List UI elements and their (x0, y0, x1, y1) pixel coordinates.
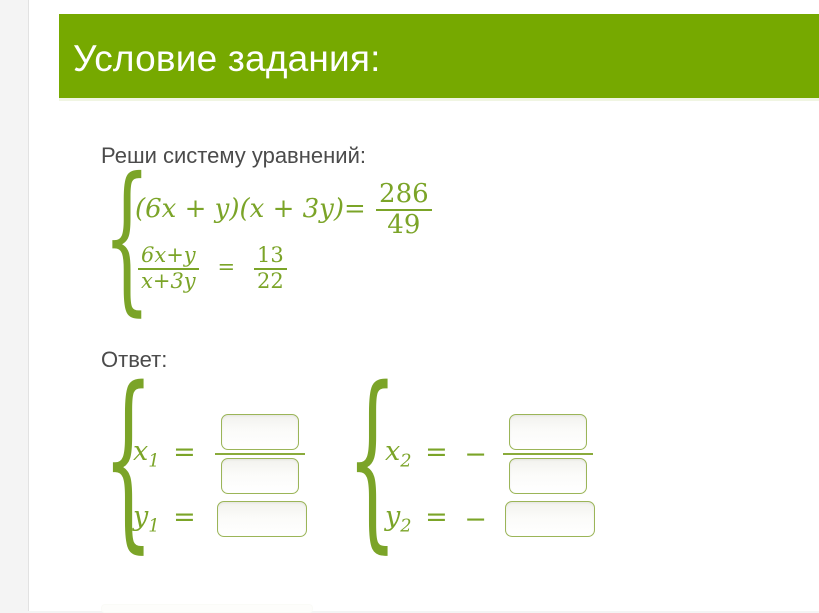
answer-x2-subscript: 2 (400, 451, 411, 472)
answer-x2-variable: x (385, 436, 400, 467)
answer-y1-variable: y (133, 501, 148, 532)
bottom-cutoff-element (101, 604, 313, 613)
answer-y1-input[interactable] (217, 501, 307, 537)
equation1-rhs-fraction: 286 49 (376, 180, 432, 240)
answer-x1-label: x1 (133, 436, 160, 471)
answer-y2-input[interactable] (505, 501, 595, 537)
answer-x2-label: x2 (385, 436, 412, 471)
answer-y2-relation: = (419, 502, 454, 533)
answer-x2-numerator-input[interactable] (509, 414, 587, 450)
equation2-rhs-denominator: 22 (254, 268, 287, 294)
answer-x2-denominator-input[interactable] (509, 458, 587, 494)
answer-row-y2: y2 = − (385, 501, 595, 537)
content-card: Условие задания: Реши систему уравнений:… (28, 0, 819, 611)
answer-y2-variable: y (385, 501, 400, 532)
answer-x1-numerator-cell (215, 414, 305, 453)
equation2-lhs-numerator: 6x+y (138, 244, 199, 268)
answer-x1-numerator-input[interactable] (221, 414, 299, 450)
equation2-rhs-fraction: 13 22 (254, 244, 287, 293)
equation1-rhs-numerator: 286 (376, 180, 432, 209)
answer-x1-relation: = (167, 437, 202, 468)
answer-y1-relation: = (167, 502, 202, 533)
equation1-rhs-denominator: 49 (376, 209, 432, 240)
answer-x1-fraction (215, 414, 305, 494)
equation-row-1: (6x + y)(x + 3y)= 286 49 (135, 180, 435, 240)
answer-y2-label: y2 (385, 501, 412, 536)
equation-row-2: 6x+y x+3y = 13 22 (135, 244, 290, 293)
equation2-lhs-fraction: 6x+y x+3y (138, 244, 199, 293)
equation1-lhs: (6x + y)(x + 3y) (135, 194, 344, 224)
equation1-relation: = (344, 194, 366, 224)
answer-x2-denominator-cell (503, 453, 593, 494)
answer-y1-label: y1 (133, 501, 160, 536)
answer-row-x2: x2 = − (385, 414, 593, 494)
equation2-relation: = (208, 255, 246, 279)
answer-x2-relation: = (419, 437, 454, 468)
page-title: Условие задания: (73, 17, 381, 101)
answer-x2-sign: − (461, 439, 490, 470)
equation-system: { (6x + y)(x + 3y)= 286 49 6x+y x+3y = 1… (101, 172, 521, 307)
equation2-lhs-denominator: x+3y (138, 268, 199, 294)
answer-row-x1: x1 = (133, 414, 305, 494)
answer-x1-subscript: 1 (148, 451, 159, 472)
page-background: Условие задания: Реши систему уравнений:… (0, 0, 819, 611)
answer-y2-sign: − (461, 504, 490, 535)
equation2-rhs-numerator: 13 (254, 244, 287, 268)
answer-row-y1: y1 = (133, 501, 307, 537)
answer-x2-fraction (503, 414, 593, 494)
answer-x1-variable: x (133, 436, 148, 467)
answer-x2-numerator-cell (503, 414, 593, 453)
answer-group-1: { x1 = y1 = (103, 376, 343, 546)
answer-y1-subscript: 1 (148, 516, 159, 537)
answer-y2-subscript: 2 (400, 516, 411, 537)
answer-x1-denominator-cell (215, 453, 305, 494)
answer-group-2: { x2 = − y2 = − (347, 376, 607, 546)
answer-x1-denominator-input[interactable] (221, 458, 299, 494)
